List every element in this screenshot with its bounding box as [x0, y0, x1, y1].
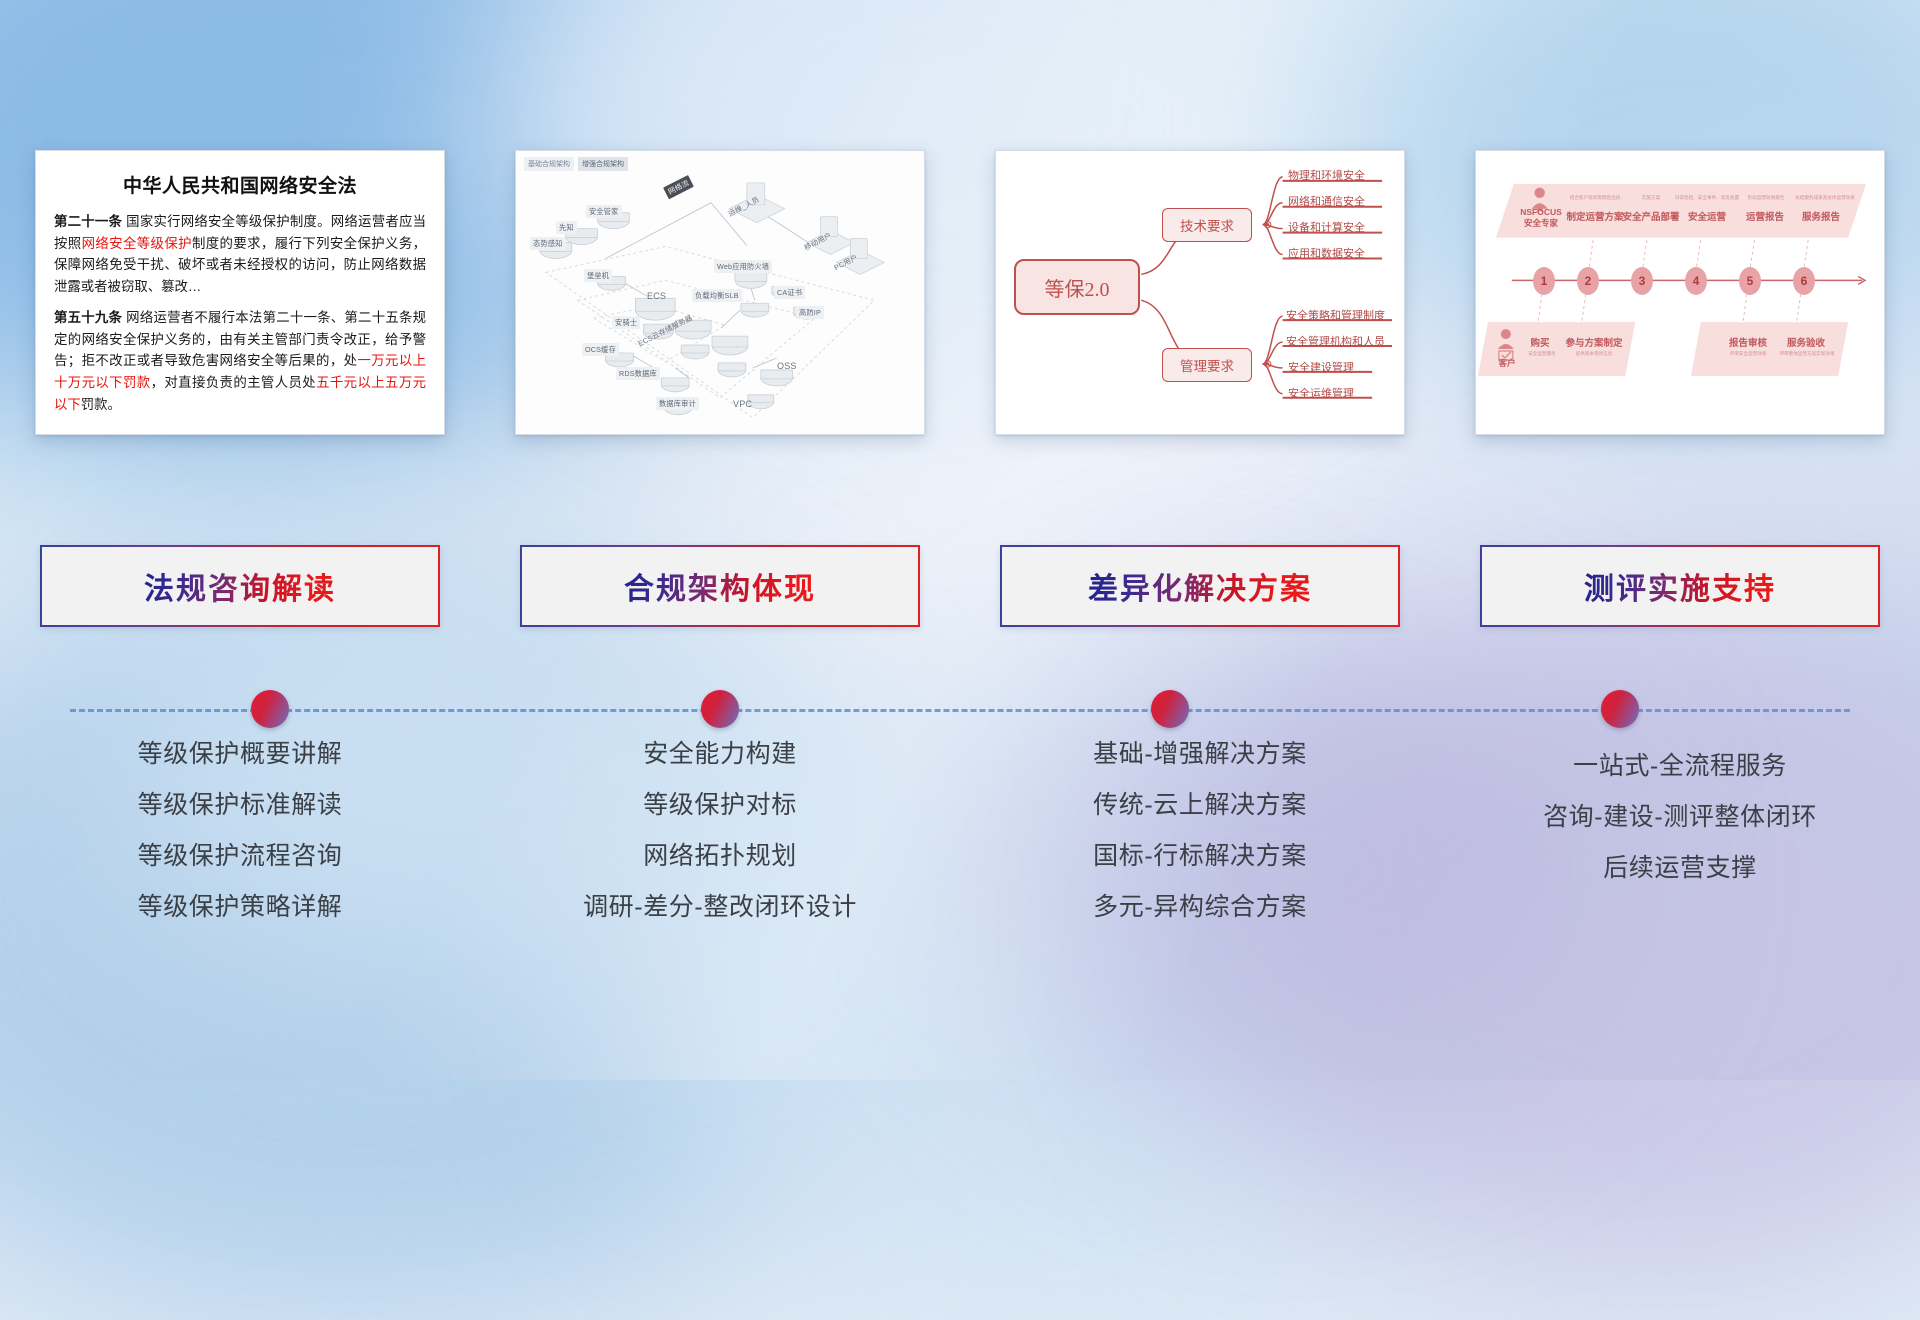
timeline-bottom-title: 服务验收 — [1778, 335, 1834, 349]
detail-list-row: 等级保护概要讲解 等级保护标准解读 等级保护流程咨询 等级保护策略详解 安全能力… — [0, 742, 1920, 920]
arch-node-label: 先知 — [556, 221, 577, 234]
detail-list-差异化解决方案: 基础-增强解决方案 传统-云上解决方案 国标-行标解决方案 多元-异构综合方案 — [960, 742, 1440, 920]
arch-node-label: ECS — [644, 289, 669, 302]
mindmap-root-node: 等保2.0 — [1014, 259, 1140, 315]
timeline-bottom-title: 报告审核 — [1720, 335, 1776, 349]
category-title: 法规咨询解读 — [144, 564, 336, 608]
title-column-2: 合规架构体现 — [480, 545, 960, 627]
article-text: ，对直接负责的主管人员处 — [151, 375, 317, 390]
category-card-差异化解决方案[interactable]: 差异化解决方案 — [1000, 545, 1400, 627]
arch-node-label: 高防IP — [796, 306, 824, 319]
list-column-4: 一站式-全流程服务 咨询-建设-测评整体闭环 后续运营支撑 — [1440, 742, 1920, 920]
list-column-3: 基础-增强解决方案 传统-云上解决方案 国标-行标解决方案 多元-异构综合方案 — [960, 742, 1440, 920]
card-cybersecurity-law[interactable]: 中华人民共和国网络安全法 第二十一条 国家实行网络安全等级保护制度。网络运营者应… — [35, 150, 445, 435]
article-highlight: 网络安全等级保护 — [82, 236, 192, 251]
thumbnail-column-4: NSFOCUS安全专家 结合客户现状需明后出具 制定运营方案 实施方案 安全产品… — [1440, 150, 1920, 435]
list-item: 多元-异构综合方案 — [960, 895, 1440, 920]
category-title: 测评实施支持 — [1584, 564, 1776, 608]
connector-dot-1 — [251, 690, 289, 728]
list-item: 一站式-全流程服务 — [1440, 754, 1920, 779]
list-item: 等级保护流程咨询 — [0, 844, 480, 869]
nsfocus-timeline: NSFOCUS安全专家 结合客户现状需明后出具 制定运营方案 实施方案 安全产品… — [1476, 151, 1884, 434]
article-number: 第二十一条 — [54, 214, 122, 229]
mindmap-leaf: 安全管理机构和人员 — [1286, 333, 1385, 349]
arch-node-label: CA证书 — [774, 286, 805, 299]
mindmap-leaf: 设备和计算安全 — [1288, 219, 1365, 235]
timeline-step-marker: 5 — [1739, 267, 1761, 295]
list-item: 传统-云上解决方案 — [960, 793, 1440, 818]
connector-dot-4 — [1601, 690, 1639, 728]
timeline-connector — [0, 690, 1920, 730]
timeline-bottom-sub: 安全运营服务 — [1518, 351, 1566, 357]
arch-node-label: 堡垒机 — [584, 269, 612, 282]
list-item: 网络拓扑规划 — [480, 844, 960, 869]
timeline-top-title: 安全运营 — [1674, 209, 1740, 223]
arch-node-label: OCS缓存 — [582, 343, 619, 356]
list-item: 咨询-建设-测评整体闭环 — [1440, 805, 1920, 830]
law-document-title: 中华人民共和国网络安全法 — [54, 171, 426, 198]
list-item: 调研-差分-整改闭环设计 — [480, 895, 960, 920]
title-column-3: 差异化解决方案 — [960, 545, 1440, 627]
mindmap-leaf: 安全建设管理 — [1288, 359, 1354, 375]
timeline-step-marker: 3 — [1631, 267, 1653, 295]
timeline-top-sub: 总结服务成果及总体运营效果 — [1786, 195, 1864, 201]
category-card-测评实施支持[interactable]: 测评实施支持 — [1480, 545, 1880, 627]
timeline-step-marker: 1 — [1533, 267, 1555, 295]
architecture-diagram: 基础合规架构 增强合规架构 — [516, 151, 924, 434]
timeline-step-marker: 2 — [1577, 267, 1599, 295]
category-card-法规咨询解读[interactable]: 法规咨询解读 — [40, 545, 440, 627]
detail-list-测评实施支持: 一站式-全流程服务 咨询-建设-测评整体闭环 后续运营支撑 — [1440, 742, 1920, 881]
list-column-1: 等级保护概要讲解 等级保护标准解读 等级保护流程咨询 等级保护策略详解 — [0, 742, 480, 920]
card-dengbao-mindmap[interactable]: 等保2.0 技术要求 管理要求 物理和环境安全 网络和通信安全 设备和计算安全 … — [995, 150, 1405, 435]
category-title: 差异化解决方案 — [1088, 564, 1312, 608]
card-nsfocus-timeline[interactable]: NSFOCUS安全专家 结合客户现状需明后出具 制定运营方案 实施方案 安全产品… — [1475, 150, 1885, 435]
title-column-4: 测评实施支持 — [1440, 545, 1920, 627]
list-column-2: 安全能力构建 等级保护对标 网络拓扑规划 调研-差分-整改闭环设计 — [480, 742, 960, 920]
list-item: 等级保护概要讲解 — [0, 742, 480, 767]
law-article-59: 第五十九条 网络运营者不履行本法第二十一条、第二十五条规定的网络安全保护义务的，… — [54, 307, 426, 416]
title-column-1: 法规咨询解读 — [0, 545, 480, 627]
law-article-21: 第二十一条 国家实行网络安全等级保护制度。网络运营者应当按照网络安全等级保护制度… — [54, 211, 426, 298]
article-text: 罚款。 — [81, 397, 121, 412]
mindmap-leaf: 安全运维管理 — [1288, 385, 1354, 401]
arch-node-label: 态势感知 — [530, 237, 566, 250]
thumbnail-column-1: 中华人民共和国网络安全法 第二十一条 国家实行网络安全等级保护制度。网络运营者应… — [0, 150, 480, 435]
arch-node-label: Web应用防火墙 — [714, 260, 772, 273]
arch-node-label: 安骑士 — [612, 316, 640, 329]
thumbnail-column-2: 基础合规架构 增强合规架构 — [480, 150, 960, 435]
arch-node-label: OSS — [774, 359, 800, 372]
card-cloud-architecture[interactable]: 基础合规架构 增强合规架构 — [515, 150, 925, 435]
law-document: 中华人民共和国网络安全法 第二十一条 国家实行网络安全等级保护制度。网络运营者应… — [36, 151, 444, 434]
list-item: 等级保护对标 — [480, 793, 960, 818]
timeline-bottom-sub: 提供基本现状信息 — [1564, 351, 1624, 357]
arch-node-label: RDS数据库 — [616, 367, 660, 380]
category-card-合规架构体现[interactable]: 合规架构体现 — [520, 545, 920, 627]
thumbnail-row: 中华人民共和国网络安全法 第二十一条 国家实行网络安全等级保护制度。网络运营者应… — [0, 150, 1920, 435]
timeline-bottom-sub: 评审整体运营方案实现效果 — [1774, 351, 1840, 357]
list-item: 等级保护标准解读 — [0, 793, 480, 818]
arch-node-label: 负载均衡SLB — [692, 289, 742, 302]
mindmap: 等保2.0 技术要求 管理要求 物理和环境安全 网络和通信安全 设备和计算安全 … — [996, 151, 1404, 434]
dashed-connector-line — [70, 709, 1850, 712]
mindmap-leaf: 网络和通信安全 — [1288, 193, 1365, 209]
nsfocus-role-customer: 客户 — [1490, 357, 1524, 369]
connector-dot-2 — [701, 690, 739, 728]
category-title-row: 法规咨询解读 合规架构体现 差异化解决方案 测评实施支持 — [0, 545, 1920, 627]
list-item: 等级保护策略详解 — [0, 895, 480, 920]
timeline-step-marker: 4 — [1685, 267, 1707, 295]
list-item: 基础-增强解决方案 — [960, 742, 1440, 767]
timeline-bottom-title: 参与方案制定 — [1560, 335, 1628, 349]
category-title: 合规架构体现 — [624, 564, 816, 608]
timeline-top-title: 服务报告 — [1788, 209, 1854, 223]
mindmap-leaf: 安全策略和管理制度 — [1286, 307, 1385, 323]
list-item: 后续运营支撑 — [1440, 856, 1920, 881]
detail-list-合规架构体现: 安全能力构建 等级保护对标 网络拓扑规划 调研-差分-整改闭环设计 — [480, 742, 960, 920]
arch-node-label: VPC — [730, 397, 755, 410]
list-item: 国标-行标解决方案 — [960, 844, 1440, 869]
mindmap-leaf: 应用和数据安全 — [1288, 245, 1365, 261]
arch-node-label: 数据库审计 — [656, 397, 699, 410]
mindmap-leaf: 物理和环境安全 — [1288, 167, 1365, 183]
timeline-bottom-title: 购买 — [1518, 335, 1562, 349]
timeline-top-sub: 结合客户现状需明后出具 — [1562, 195, 1628, 201]
article-number: 第五十九条 — [54, 310, 122, 325]
arch-node-label: 安全管家 — [586, 205, 622, 218]
connector-dot-3 — [1151, 690, 1189, 728]
detail-list-法规咨询解读: 等级保护概要讲解 等级保护标准解读 等级保护流程咨询 等级保护策略详解 — [0, 742, 480, 920]
timeline-bottom-sub: 评审安全运营效果 — [1720, 351, 1776, 357]
mindmap-branch-technical: 技术要求 — [1162, 208, 1252, 242]
list-item: 安全能力构建 — [480, 742, 960, 767]
thumbnail-column-3: 等保2.0 技术要求 管理要求 物理和环境安全 网络和通信安全 设备和计算安全 … — [960, 150, 1440, 435]
mindmap-branch-management: 管理要求 — [1162, 348, 1252, 382]
timeline-step-marker: 6 — [1793, 267, 1815, 295]
